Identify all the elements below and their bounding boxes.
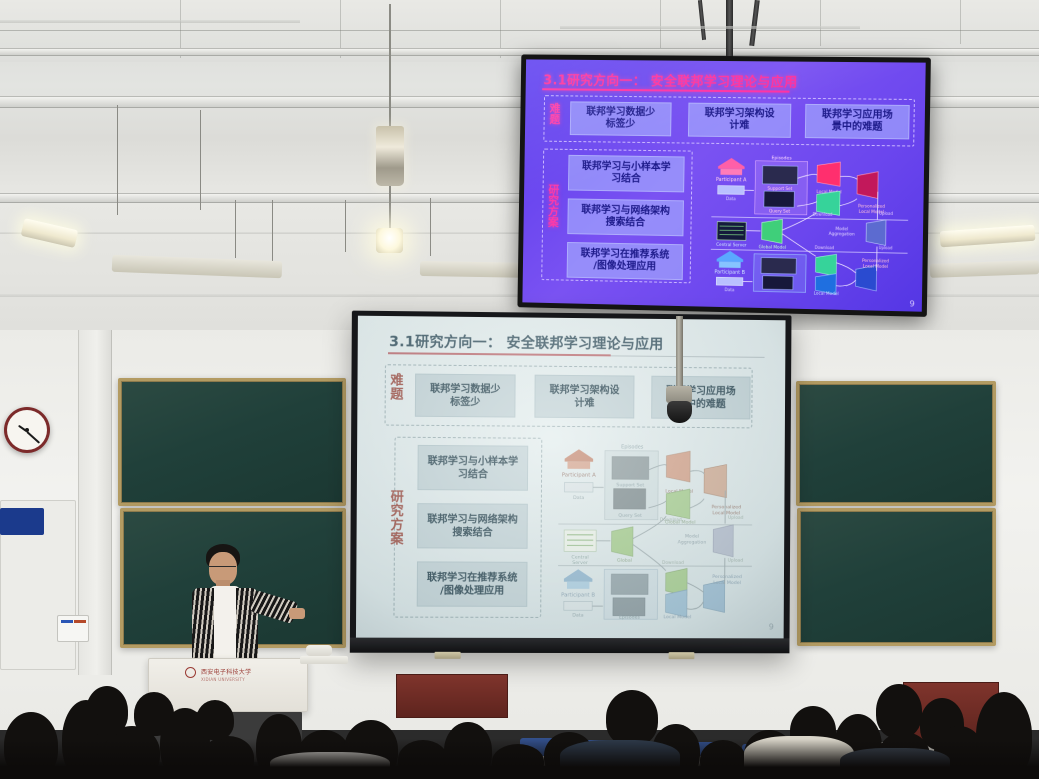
svg-text:Data: Data: [572, 613, 583, 619]
svg-text:Upload: Upload: [728, 515, 744, 521]
wall-clock: [4, 407, 50, 453]
presenter-hand: [289, 608, 305, 619]
ceiling-beam-upper: [0, 48, 1039, 56]
pendant-lamp-left: [376, 126, 404, 186]
svg-text:Local Model: Local Model: [712, 510, 740, 516]
svg-text:Data: Data: [573, 495, 584, 501]
svg-text:Personalized: Personalized: [712, 504, 742, 510]
svg-text:Query Set: Query Set: [618, 513, 642, 519]
audience-head: [876, 684, 922, 738]
svg-text:Support Set: Support Set: [616, 482, 644, 488]
audience-head: [86, 686, 128, 736]
slide-number: 9: [769, 622, 774, 631]
difficulty-box-2: 联邦学习架构设 计难: [534, 375, 634, 419]
svg-text:Episodes: Episodes: [621, 444, 644, 450]
white-wall-placard: [57, 615, 89, 642]
difficulty-box-1: 联邦学习数据少 标签少: [415, 374, 516, 418]
presenter-glasses: [209, 566, 236, 569]
lecture-hall-scene: 3.1研究方向一： 安全联邦学习理论与应用 难题 联邦学习数据少 标签少 联邦学…: [0, 0, 1039, 779]
ceiling-conduit: [0, 20, 300, 23]
clock-face: [7, 410, 47, 450]
blackboard-left: [118, 378, 346, 506]
presenter-jacket-left: [192, 588, 214, 660]
svg-text:Download: Download: [662, 560, 684, 566]
lectern-logo-text: 西安电子科技大学: [201, 667, 251, 676]
audience-head: [606, 690, 658, 746]
svg-text:Central: Central: [571, 555, 588, 561]
screen-surface: 3.1研究方向一： 安全联邦学习理论与应用 难题 联邦学习数据少 标签少 联邦学…: [356, 316, 786, 639]
clock-minute-hand: [26, 431, 40, 444]
svg-text:Personalized: Personalized: [712, 574, 742, 580]
svg-text:Local Model: Local Model: [663, 614, 691, 620]
slide-title: 3.1研究方向一： 安全联邦学习理论与应用: [389, 331, 664, 354]
dome-camera-lens: [667, 401, 692, 423]
side-cabinet: [396, 674, 508, 718]
pendant-bulb-left: [376, 228, 403, 253]
section-label-difficulties: 难题: [389, 374, 405, 402]
svg-text:Model: Model: [685, 534, 699, 540]
screen-bottom-bar: [350, 638, 790, 654]
svg-text:Participant A: Participant A: [562, 472, 596, 478]
lectern-crest: [185, 667, 196, 678]
podium-equipment: [306, 645, 332, 656]
plan-box-3: 联邦学习在推荐系统 /图像处理应用: [417, 561, 528, 606]
slide-title-rule-thin: [611, 355, 765, 357]
svg-text:Local Model: Local Model: [713, 580, 741, 586]
tv-mount-pole: [726, 0, 733, 58]
svg-text:Server: Server: [572, 560, 588, 566]
svg-text:Participant B: Participant B: [561, 593, 595, 599]
blackboard-right-lower: [797, 508, 996, 646]
camera-mount-pole: [676, 316, 683, 389]
svg-text:Upload: Upload: [728, 558, 744, 564]
svg-text:Global: Global: [617, 558, 632, 564]
blue-wall-sign: [0, 508, 44, 535]
blackboard-right: [796, 381, 996, 506]
svg-text:Episodes: Episodes: [619, 615, 641, 621]
section-label-research-plan: 研究方案: [389, 491, 405, 547]
wall-mounted-led-tv[interactable]: 3.1研究方向一： 安全联邦学习理论与应用 难题 联邦学习数据少 标签少 联邦学…: [517, 54, 930, 316]
svg-text:Aggregation: Aggregation: [678, 540, 707, 546]
lectern-side-shelf: [300, 656, 348, 664]
pull-down-projector-screen[interactable]: 3.1研究方向一： 安全联邦学习理论与应用 难题 联邦学习数据少 标签少 联邦学…: [350, 311, 792, 654]
tv-bezel: [517, 54, 930, 316]
audience-head: [196, 700, 234, 740]
pendant-lamp-rod-left: [389, 4, 391, 126]
plan-box-1: 联邦学习与小样本学 习结合: [417, 445, 528, 491]
audience-head: [134, 692, 174, 736]
federated-learning-diagram: Participant A Data Episodes Support Set …: [554, 440, 756, 621]
audience-foreground-shade: [0, 739, 1039, 779]
plan-box-2: 联邦学习与网络架构 搜索结合: [417, 503, 528, 549]
lectern-logo-subtext: XIDIAN UNIVERSITY: [201, 677, 245, 682]
